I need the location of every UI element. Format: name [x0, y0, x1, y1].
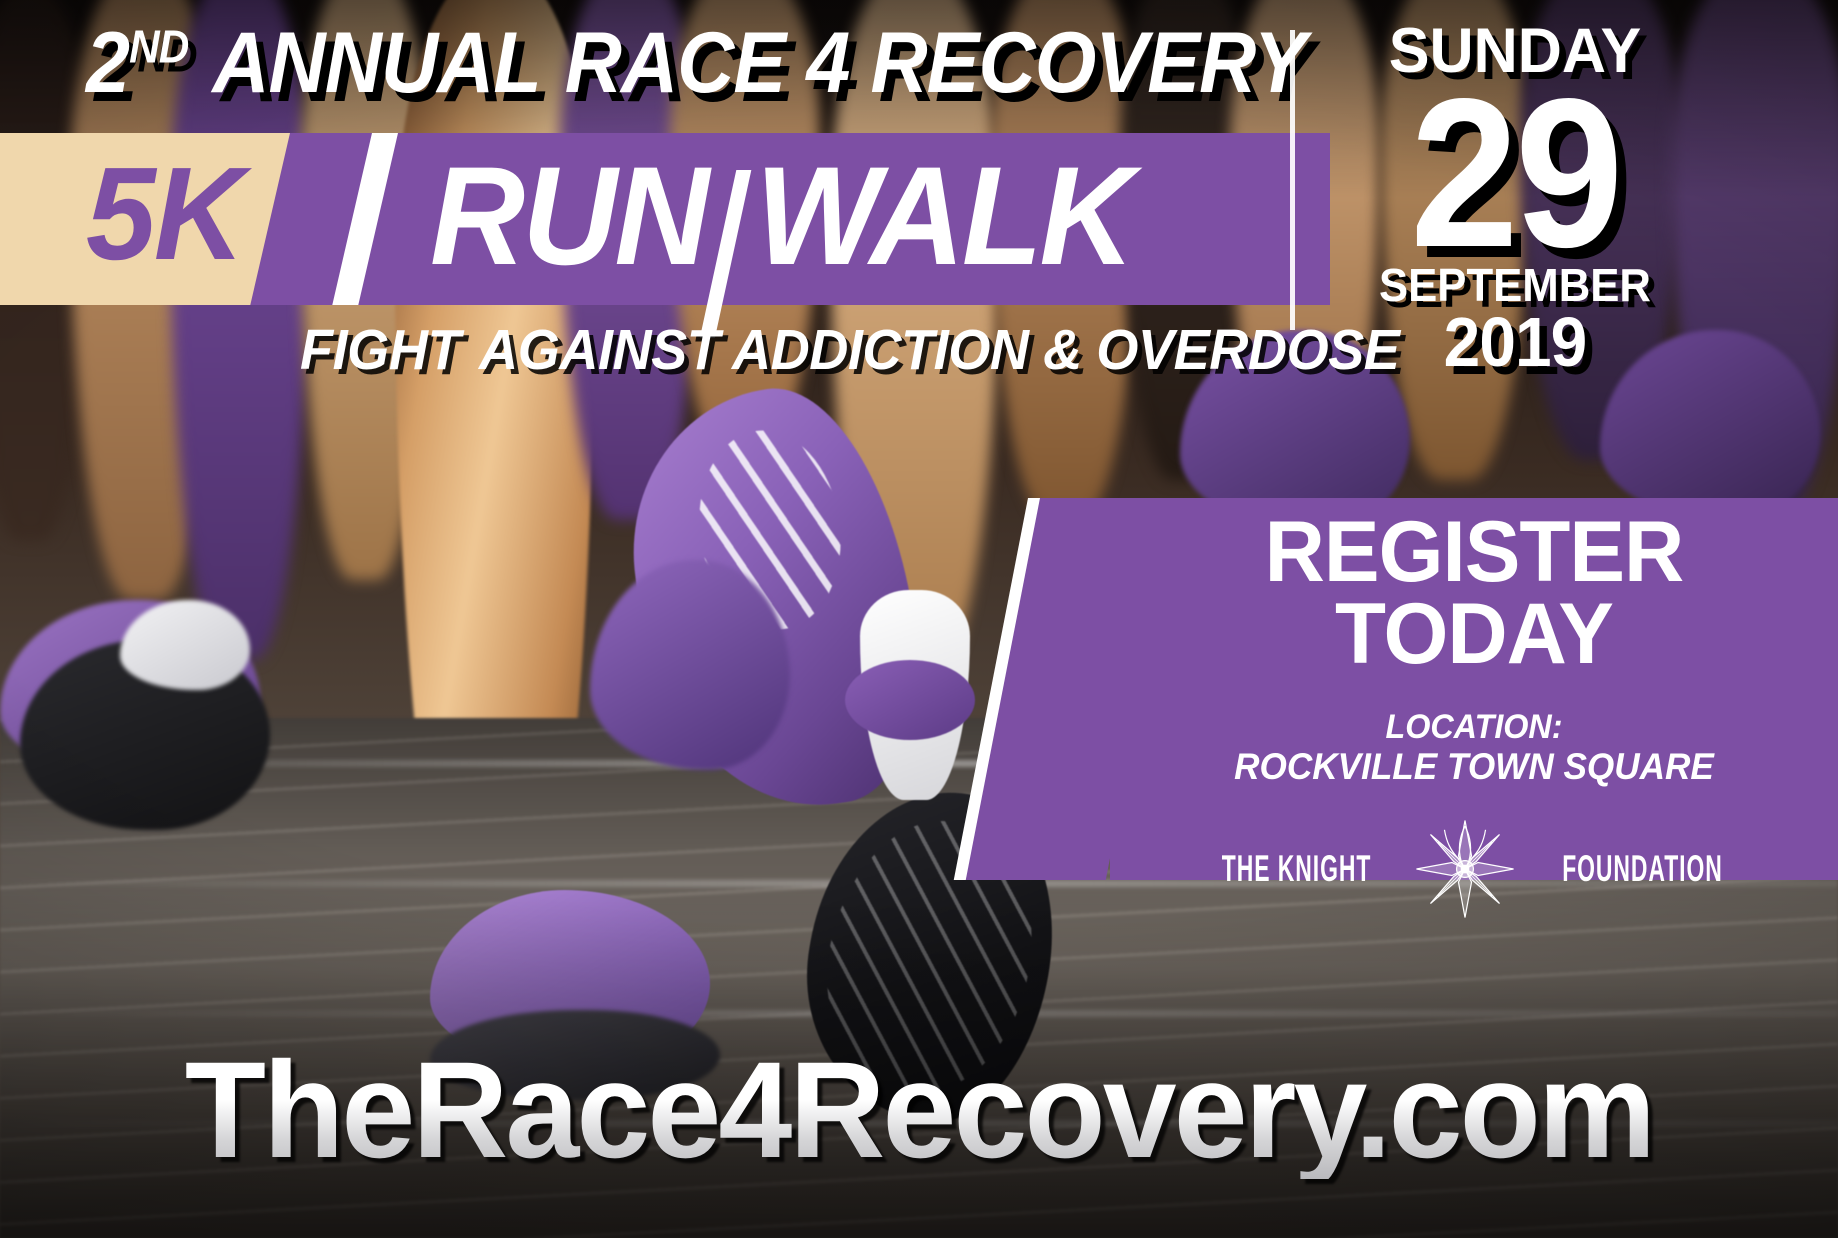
- poster-title: 2NDANNUALRACE 4 RECOVERY: [86, 20, 1306, 106]
- location-label: LOCATION:: [1128, 709, 1820, 746]
- date-day-number: 29: [1317, 86, 1713, 260]
- overlay-layer: 2NDANNUALRACE 4 RECOVERY 5K RUNWALK FIGH…: [0, 0, 1838, 1238]
- activity-run-label: RUN: [430, 137, 707, 294]
- title-event-name: RACE 4 RECOVERY: [565, 15, 1306, 111]
- date-year: 2019: [1313, 309, 1717, 376]
- date-divider-rule: [1290, 30, 1295, 330]
- poster-tagline: FIGHTAGAINST ADDICTION & OVERDOSE: [300, 322, 1399, 379]
- activity-label: RUNWALK: [430, 146, 1132, 314]
- sponsor-name-left: THE KNIGHT: [1222, 848, 1371, 890]
- title-edition-suffix: ND: [129, 20, 188, 72]
- location-value: ROCKVILLE TOWN SQUARE: [1128, 747, 1820, 788]
- title-edition-number: 2: [86, 15, 129, 111]
- activity-walk-label: WALK: [756, 137, 1132, 294]
- race-poster: 2NDANNUALRACE 4 RECOVERY 5K RUNWALK FIGH…: [0, 0, 1838, 1238]
- tagline-word-fight: FIGHT: [300, 318, 460, 382]
- tagline-rest: AGAINST ADDICTION & OVERDOSE: [479, 318, 1399, 382]
- register-panel-content: REGISTER TODAY LOCATION: ROCKVILLE TOWN …: [1110, 498, 1838, 880]
- distance-label: 5K: [86, 148, 243, 280]
- date-month: SEPTEMBER: [1311, 262, 1720, 308]
- event-date-block: SUNDAY 29 SEPTEMBER 2019: [1300, 22, 1730, 375]
- register-cta-line-2: TODAY: [1121, 594, 1827, 676]
- sponsor-logo: THE KNIGHT: [1110, 813, 1838, 925]
- register-cta-line-1: REGISTER: [1121, 498, 1827, 594]
- compass-star-emblem-icon: [1409, 813, 1521, 925]
- run-walk-slash-icon: [700, 170, 751, 338]
- title-annual-word: ANNUAL: [212, 15, 541, 111]
- website-url[interactable]: TheRace4Recovery.com: [28, 1042, 1811, 1179]
- sponsor-name-right: FOUNDATION: [1562, 848, 1723, 890]
